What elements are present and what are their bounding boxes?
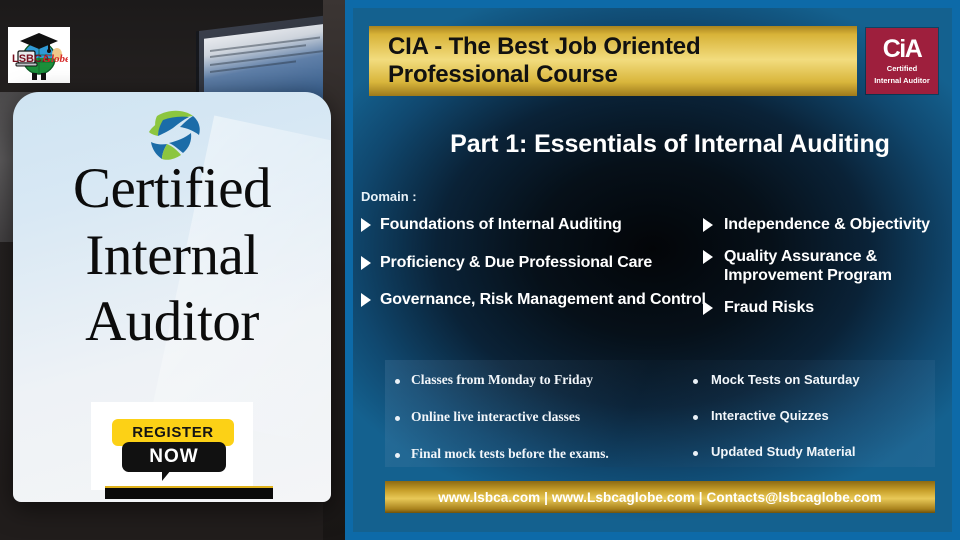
domain-item: Independence & Objectivity: [703, 215, 952, 235]
part-title: Part 1: Essentials of Internal Auditing: [381, 130, 952, 159]
domain-item-label: Foundations of Internal Auditing: [380, 215, 622, 235]
features-list-right: Mock Tests on Saturday Interactive Quizz…: [693, 372, 933, 480]
badge-mark: CiA: [883, 37, 922, 62]
triangle-bullet-icon: [703, 250, 713, 264]
features-list-left: Classes from Monday to Friday Online liv…: [395, 372, 685, 483]
domain-item: Fraud Risks: [703, 298, 952, 318]
domain-item-label: Proficiency & Due Professional Care: [380, 253, 652, 273]
register-now-button[interactable]: REGISTER NOW: [106, 415, 238, 477]
feature-item-label: Classes from Monday to Friday: [411, 372, 593, 388]
header-title-line-2: Professional Course: [388, 61, 700, 89]
domain-item-label: Independence & Objectivity: [724, 215, 930, 235]
cia-certification-badge: CiA Certified Internal Auditor: [866, 28, 938, 94]
dot-bullet-icon: [693, 379, 698, 384]
feature-item: Mock Tests on Saturday: [693, 372, 933, 387]
header-title: CIA - The Best Job Oriented Professional…: [388, 33, 700, 89]
feature-item-label: Updated Study Material: [711, 444, 855, 459]
card-title-line-3: Auditor: [13, 289, 331, 356]
features-panel: Classes from Monday to Friday Online liv…: [385, 360, 935, 467]
lsbca-globe-graduate-logo-icon: LSBCA Globe: [10, 29, 68, 81]
domain-item-label: Fraud Risks: [724, 298, 814, 318]
part-title-rest: : Essentials of Internal Auditing: [519, 130, 890, 158]
dot-bullet-icon: [693, 451, 698, 456]
domain-item-label: Quality Assurance & Improvement Program: [724, 247, 952, 286]
register-now-image: REGISTER NOW: [91, 402, 253, 490]
badge-subtitle-1: Certified: [887, 65, 917, 74]
feature-item-label: Online live interactive classes: [411, 409, 580, 425]
dot-bullet-icon: [693, 415, 698, 420]
domain-list-right: Independence & Objectivity Quality Assur…: [703, 215, 952, 329]
now-label: NOW: [122, 442, 226, 472]
dot-bullet-icon: [395, 379, 400, 384]
domain-list-left: Foundations of Internal Auditing Profici…: [361, 215, 706, 328]
feature-item-label: Interactive Quizzes: [711, 408, 829, 423]
feature-item: Classes from Monday to Friday: [395, 372, 685, 388]
triangle-bullet-icon: [361, 293, 371, 307]
domain-item: Foundations of Internal Auditing: [361, 215, 706, 235]
dot-bullet-icon: [395, 453, 400, 458]
footer-contact-bar: www.lsbca.com | www.Lsbcaglobe.com | Con…: [385, 481, 935, 513]
speech-bubble-tail: [162, 470, 171, 481]
badge-subtitle-2: Internal Auditor: [874, 77, 930, 86]
domain-item: Governance, Risk Management and Control: [361, 290, 706, 310]
triangle-bullet-icon: [361, 256, 371, 270]
left-panel: LSBCA Globe Certified Internal Auditor: [0, 0, 345, 540]
brand-text-secondary: Globe: [43, 53, 68, 65]
domain-item-label: Governance, Risk Management and Control: [380, 290, 706, 310]
right-panel-inner: CIA - The Best Job Oriented Professional…: [353, 8, 952, 532]
card-title-line-2: Internal: [13, 223, 331, 290]
feature-item: Online live interactive classes: [395, 409, 685, 425]
promotional-poster: LSBCA Globe Certified Internal Auditor: [0, 0, 960, 540]
triangle-bullet-icon: [361, 218, 371, 232]
domain-item: Proficiency & Due Professional Care: [361, 253, 706, 273]
feature-item: Final mock tests before the exams.: [395, 446, 685, 462]
dot-bullet-icon: [395, 416, 400, 421]
right-panel: CIA - The Best Job Oriented Professional…: [345, 0, 960, 540]
card-title-line-1: Certified: [13, 156, 331, 223]
feature-item: Interactive Quizzes: [693, 408, 933, 423]
card-title: Certified Internal Auditor: [13, 156, 331, 356]
part-number: Part 1: [450, 130, 519, 158]
feature-item-label: Final mock tests before the exams.: [411, 446, 609, 462]
domain-item: Quality Assurance & Improvement Program: [703, 247, 952, 286]
domain-label: Domain :: [361, 189, 417, 204]
triangle-bullet-icon: [703, 218, 713, 232]
black-accent-bar: [105, 488, 273, 499]
footer-contact-text[interactable]: www.lsbca.com | www.Lsbcaglobe.com | Con…: [438, 490, 882, 505]
header-title-line-1: CIA - The Best Job Oriented: [388, 33, 700, 61]
lsbca-globe-logo[interactable]: LSBCA Globe: [8, 27, 70, 83]
feature-item-label: Mock Tests on Saturday: [711, 372, 860, 387]
feature-item: Updated Study Material: [693, 444, 933, 459]
certified-internal-auditor-card: Certified Internal Auditor REGISTER NOW: [13, 92, 331, 502]
header-banner: CIA - The Best Job Oriented Professional…: [369, 26, 857, 96]
triangle-bullet-icon: [703, 301, 713, 315]
